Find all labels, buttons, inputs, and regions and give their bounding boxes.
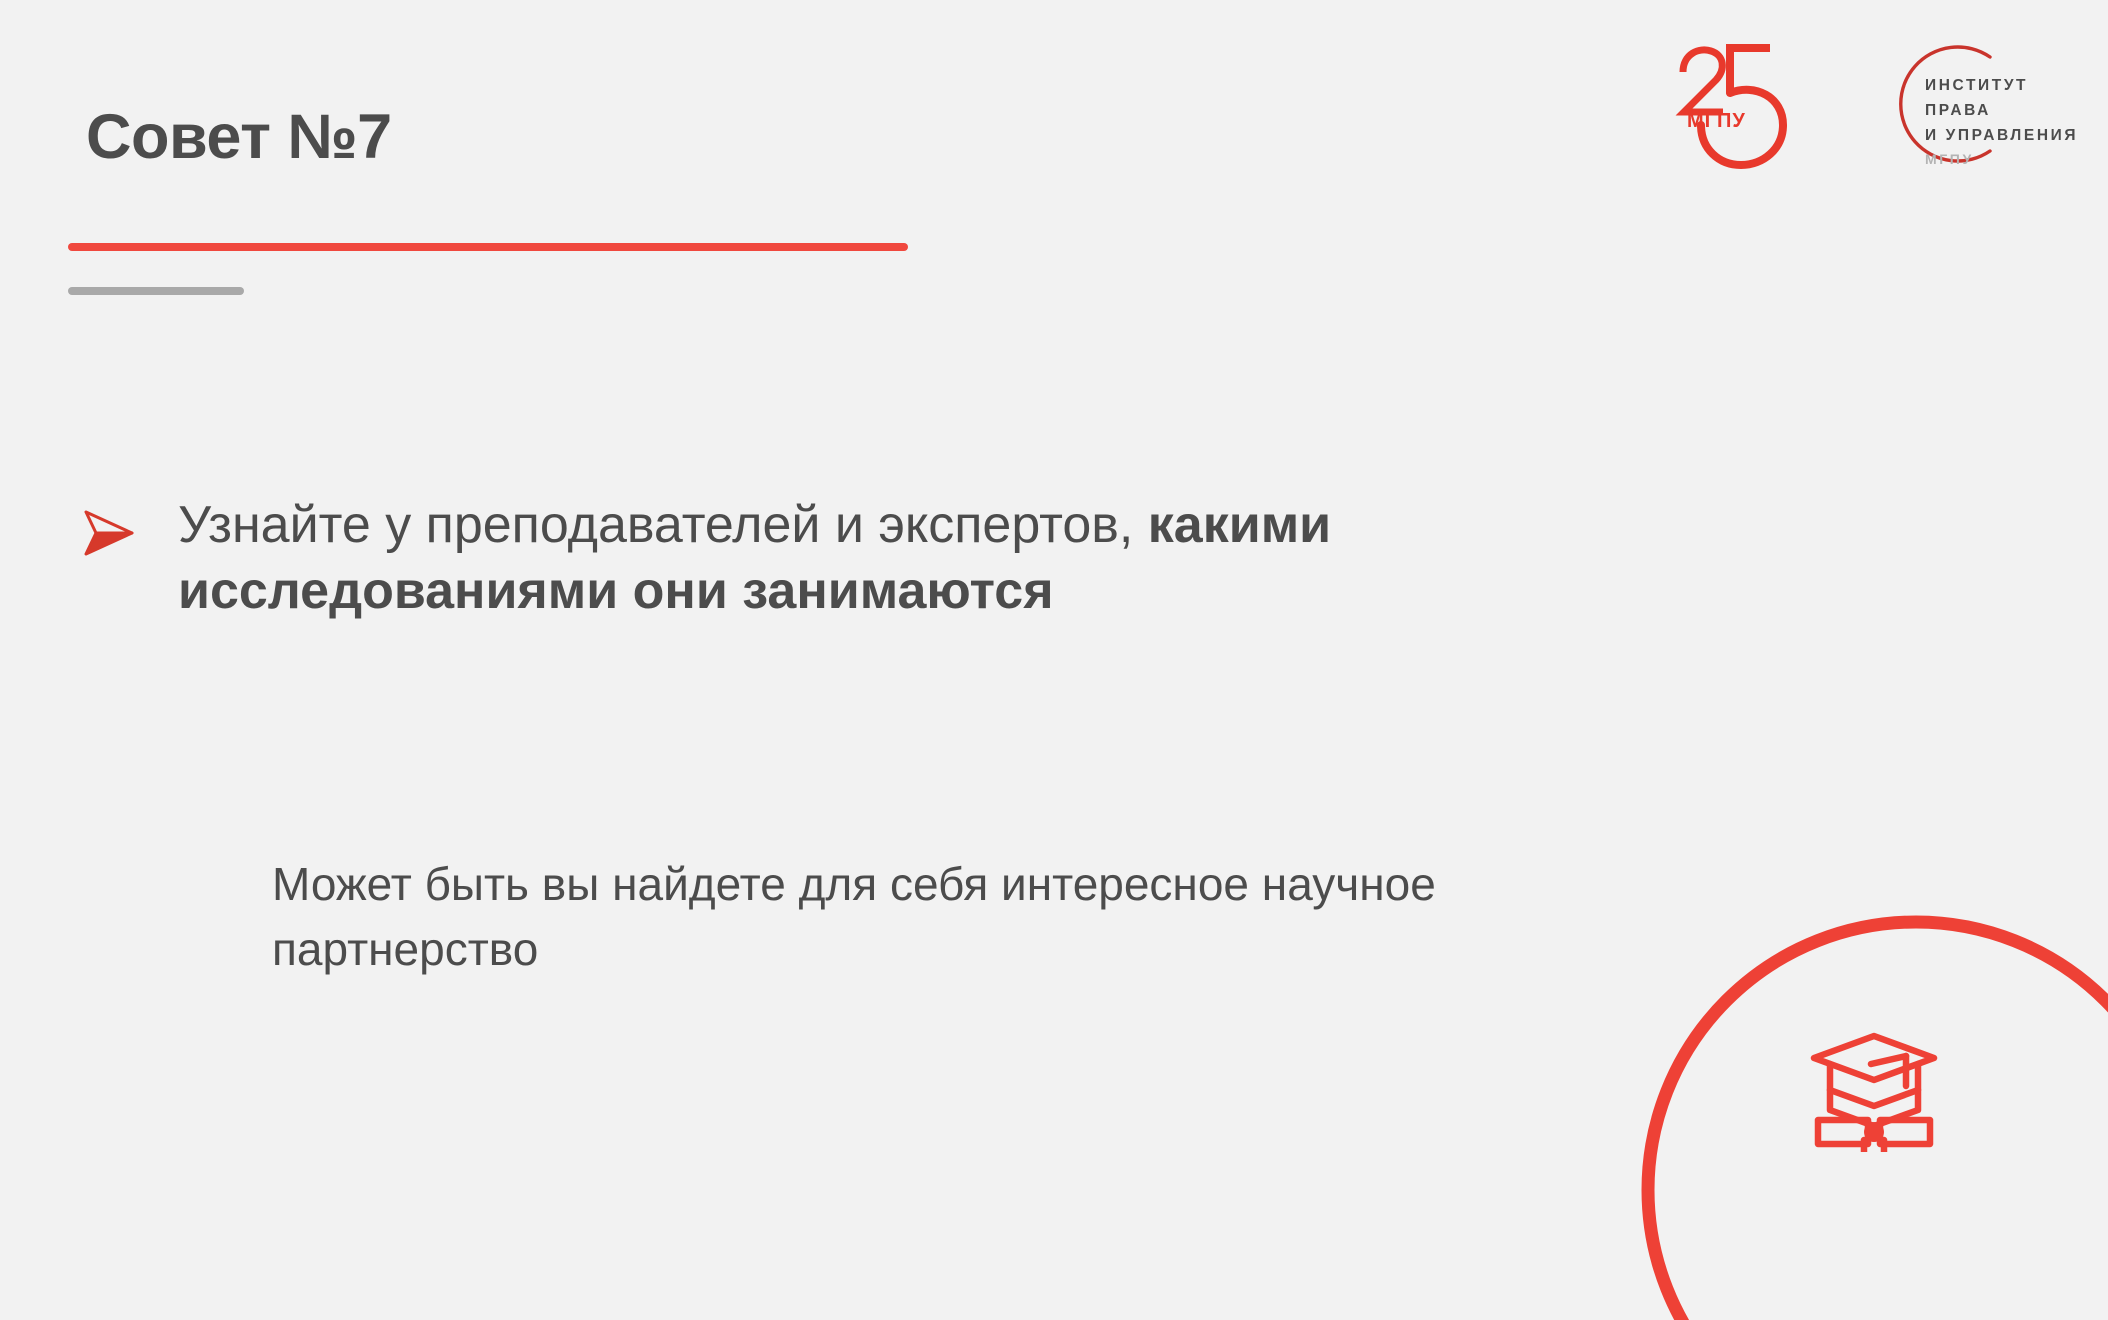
institute-logo-line-2: ПРАВА bbox=[1925, 98, 2078, 123]
logo-lockup: МГПУ ИНСТИТУТ ПРАВА И УПРАВЛЕНИЯ МГПУ bbox=[1671, 34, 2064, 174]
institute-logo: ИНСТИТУТ ПРАВА И УПРАВЛЕНИЯ МГПУ bbox=[1839, 35, 2064, 173]
institute-logo-line-4: МГПУ bbox=[1925, 148, 2078, 171]
supporting-paragraph: Может быть вы найдете для себя интересно… bbox=[272, 852, 1532, 983]
arrow-bullet-icon bbox=[82, 506, 138, 562]
institute-logo-text: ИНСТИТУТ ПРАВА И УПРАВЛЕНИЯ МГПУ bbox=[1925, 73, 2078, 171]
bullet-text: Узнайте у преподавателей и экспертов, ка… bbox=[178, 492, 1582, 624]
graduation-cap-icon bbox=[1808, 1028, 1940, 1152]
institute-logo-line-1: ИНСТИТУТ bbox=[1925, 73, 2078, 98]
page-title: Совет №7 bbox=[86, 104, 392, 170]
accent-rule-gray bbox=[68, 287, 244, 295]
anniversary-25-logo: МГПУ bbox=[1671, 39, 1803, 169]
bullet-lead-text: Узнайте у преподавателей и экспертов, bbox=[178, 496, 1133, 554]
anniversary-logo-caption: МГПУ bbox=[1687, 110, 1746, 133]
institute-logo-line-3: И УПРАВЛЕНИЯ bbox=[1925, 123, 2078, 148]
accent-rule-red bbox=[68, 243, 908, 251]
slide-canvas: Совет №7 Узнайте у преподавателей и эксп… bbox=[0, 0, 2108, 1320]
bullet-block: Узнайте у преподавателей и экспертов, ка… bbox=[82, 492, 1582, 624]
